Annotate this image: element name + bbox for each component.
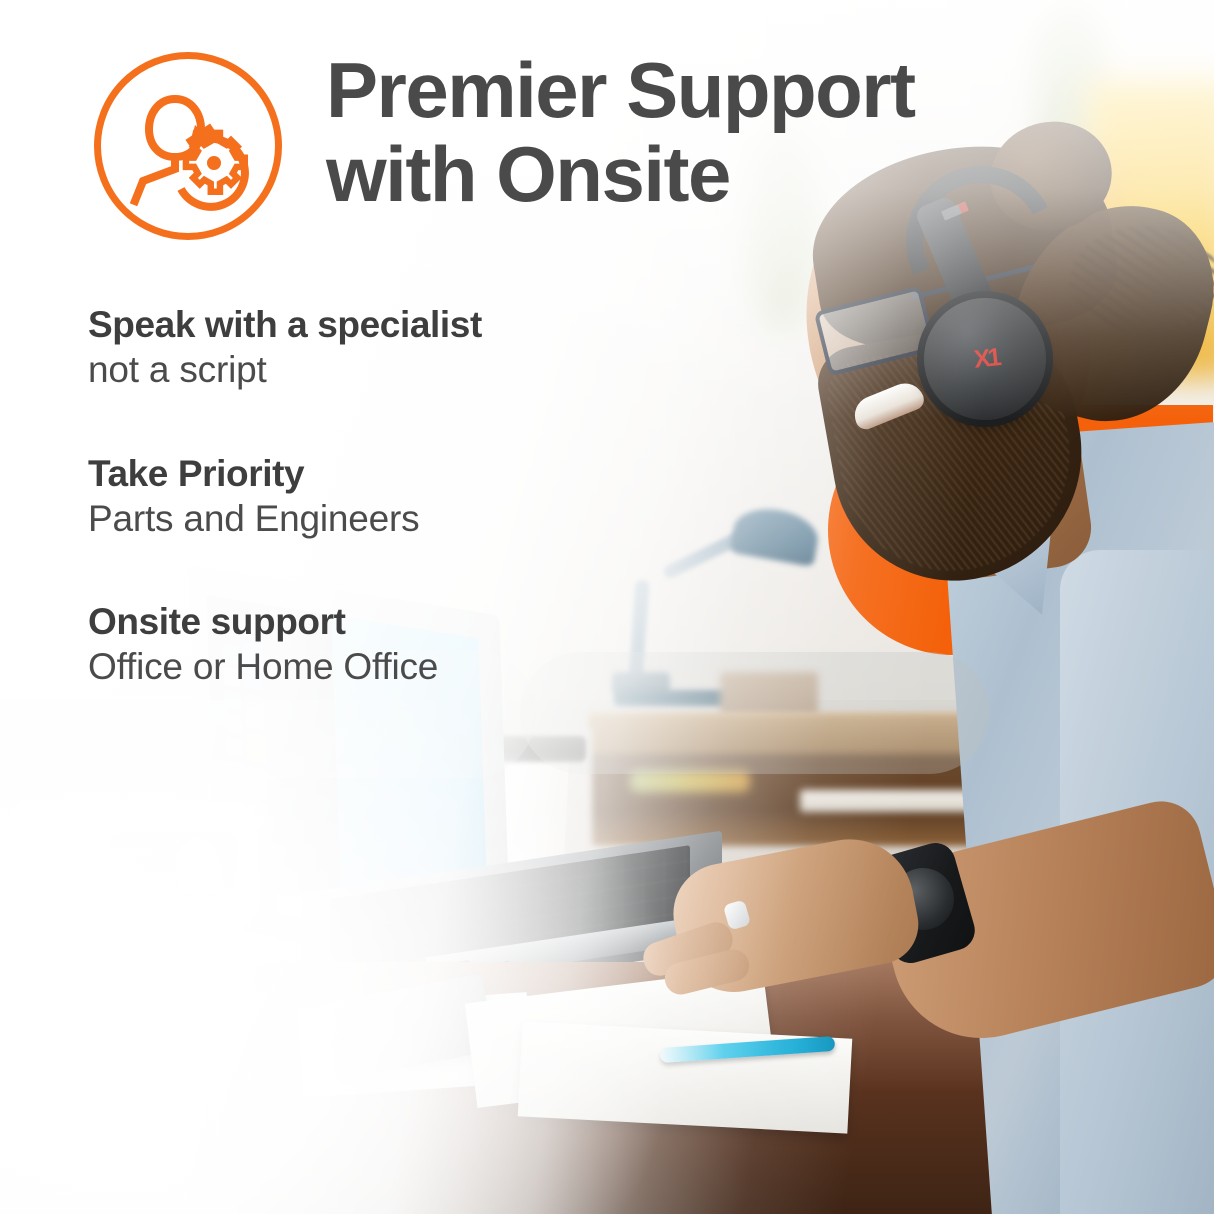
feature-title: Onsite support	[88, 600, 728, 644]
feature-subtitle: not a script	[88, 347, 728, 392]
feature-title: Speak with a specialist	[88, 303, 728, 347]
promo-banner: X1	[0, 0, 1214, 1214]
headline-line-1: Premier Support	[326, 48, 1086, 132]
feature-subtitle: Office or Home Office	[88, 644, 728, 689]
feature-subtitle: Parts and Engineers	[88, 496, 728, 541]
content-layer: Premier Support with Onsite Speak with a…	[0, 0, 1214, 1214]
feature-item-priority: Take Priority Parts and Engineers	[88, 452, 728, 542]
feature-item-specialist: Speak with a specialist not a script	[88, 303, 728, 393]
headline-line-2: with Onsite	[326, 132, 1086, 216]
feature-title: Take Priority	[88, 452, 728, 496]
page-title: Premier Support with Onsite	[326, 48, 1086, 216]
support-badge	[94, 52, 282, 240]
user-gear-refresh-icon	[129, 89, 261, 217]
feature-item-onsite: Onsite support Office or Home Office	[88, 600, 728, 690]
feature-list: Speak with a specialist not a script Tak…	[88, 303, 728, 690]
